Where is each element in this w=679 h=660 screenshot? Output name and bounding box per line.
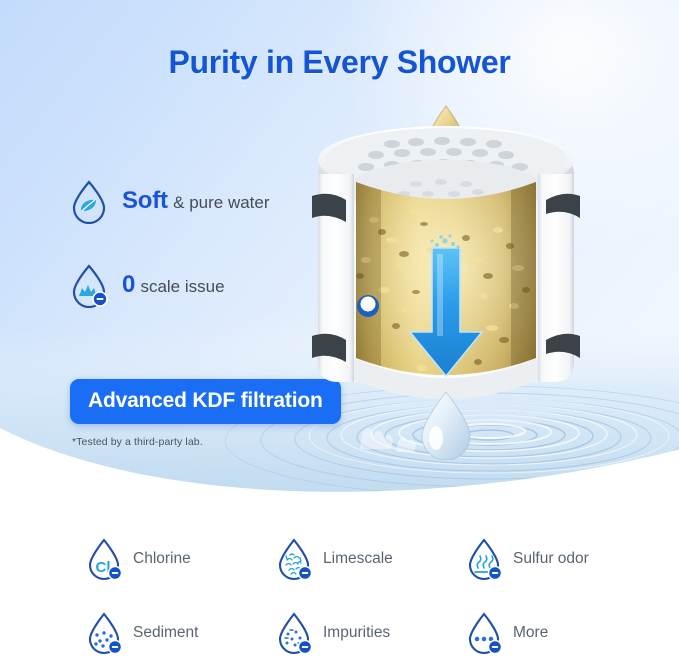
hero-section: Purity in Every Shower Soft & pure water <box>0 0 679 500</box>
remove-item-sulfur-odor: Sulfur odor <box>464 522 654 596</box>
remove-label-sulfur-odor: Sulfur odor <box>513 550 589 568</box>
chlorine-droplet-icon: Cl <box>84 536 124 582</box>
feature-strong-scale: 0 <box>122 271 135 298</box>
remove-label-impurities: Impurities <box>323 624 390 642</box>
remove-label-sediment: Sediment <box>133 624 198 642</box>
kdf-shower-filter-cutaway <box>296 100 596 460</box>
product-infographic: Purity in Every Shower Soft & pure water <box>0 0 679 660</box>
remove-item-more: More <box>464 596 654 660</box>
footnote-text: *Tested by a third-party lab. <box>72 436 203 448</box>
feature-strong-soft: Soft <box>122 187 168 214</box>
page-title: Purity in Every Shower <box>0 44 679 81</box>
filter-marker <box>357 295 379 317</box>
feature-label-scale: 0 scale issue <box>122 273 225 297</box>
removes-grid: Cl Chlorine <box>84 522 624 660</box>
leaf-droplet-icon <box>68 178 110 224</box>
more-droplet-icon <box>464 610 504 656</box>
removes-section: Cl Chlorine <box>0 500 679 660</box>
sediment-droplet-icon <box>84 610 124 656</box>
sulfur-odor-droplet-icon <box>464 536 504 582</box>
feature-rest-scale: scale issue <box>140 277 224 296</box>
remove-label-chlorine: Chlorine <box>133 550 191 568</box>
remove-label-limescale: Limescale <box>323 550 393 568</box>
feature-rest-soft: & pure water <box>173 193 269 212</box>
clear-water-droplet <box>422 392 470 460</box>
remove-item-impurities: Impurities <box>274 596 464 660</box>
remove-item-limescale: Limescale <box>274 522 464 596</box>
feature-label-soft: Soft & pure water <box>122 189 270 213</box>
scale-droplet-icon <box>68 262 110 308</box>
remove-label-more: More <box>513 624 548 642</box>
limescale-droplet-icon <box>274 536 314 582</box>
impurities-droplet-icon <box>274 610 314 656</box>
remove-item-sediment: Sediment <box>84 596 274 660</box>
remove-item-chlorine: Cl Chlorine <box>84 522 274 596</box>
